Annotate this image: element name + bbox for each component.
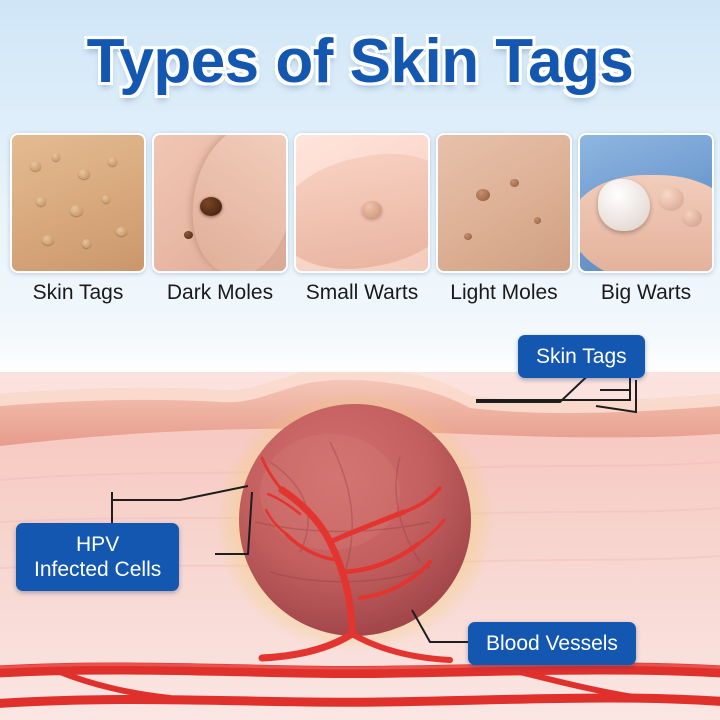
thumbnail-caption: Dark Moles — [152, 281, 288, 304]
dark-moles-photo — [152, 133, 288, 273]
callout-skin-tags[interactable]: Skin Tags — [518, 335, 645, 378]
thumbnail-item[interactable]: Dark Moles — [152, 133, 288, 304]
thumbnail-caption: Small Warts — [294, 281, 430, 304]
thumbnail-item[interactable]: Skin Tags — [10, 133, 146, 304]
thumbnail-caption: Light Moles — [436, 281, 572, 304]
callout-hpv-infected-cells[interactable]: HPV Infected Cells — [16, 523, 179, 591]
small-warts-photo — [294, 133, 430, 273]
title-container: Types of Skin Tags — [0, 26, 720, 97]
poster-root: Types of Skin Tags Skin Tags — [0, 0, 720, 720]
thumbnail-item[interactable]: Light Moles — [436, 133, 572, 304]
thumbnail-item[interactable]: Small Warts — [294, 133, 430, 304]
thumbnail-row: Skin Tags Dark Moles Small Warts — [10, 133, 710, 304]
light-moles-photo — [436, 133, 572, 273]
big-warts-photo — [578, 133, 714, 273]
thumbnail-caption: Skin Tags — [10, 281, 146, 304]
skin-tags-photo — [10, 133, 146, 273]
thumbnail-caption: Big Warts — [578, 281, 714, 304]
callout-blood-vessels[interactable]: Blood Vessels — [468, 622, 636, 665]
page-title: Types of Skin Tags — [87, 26, 634, 97]
thumbnail-item[interactable]: Big Warts — [578, 133, 714, 304]
